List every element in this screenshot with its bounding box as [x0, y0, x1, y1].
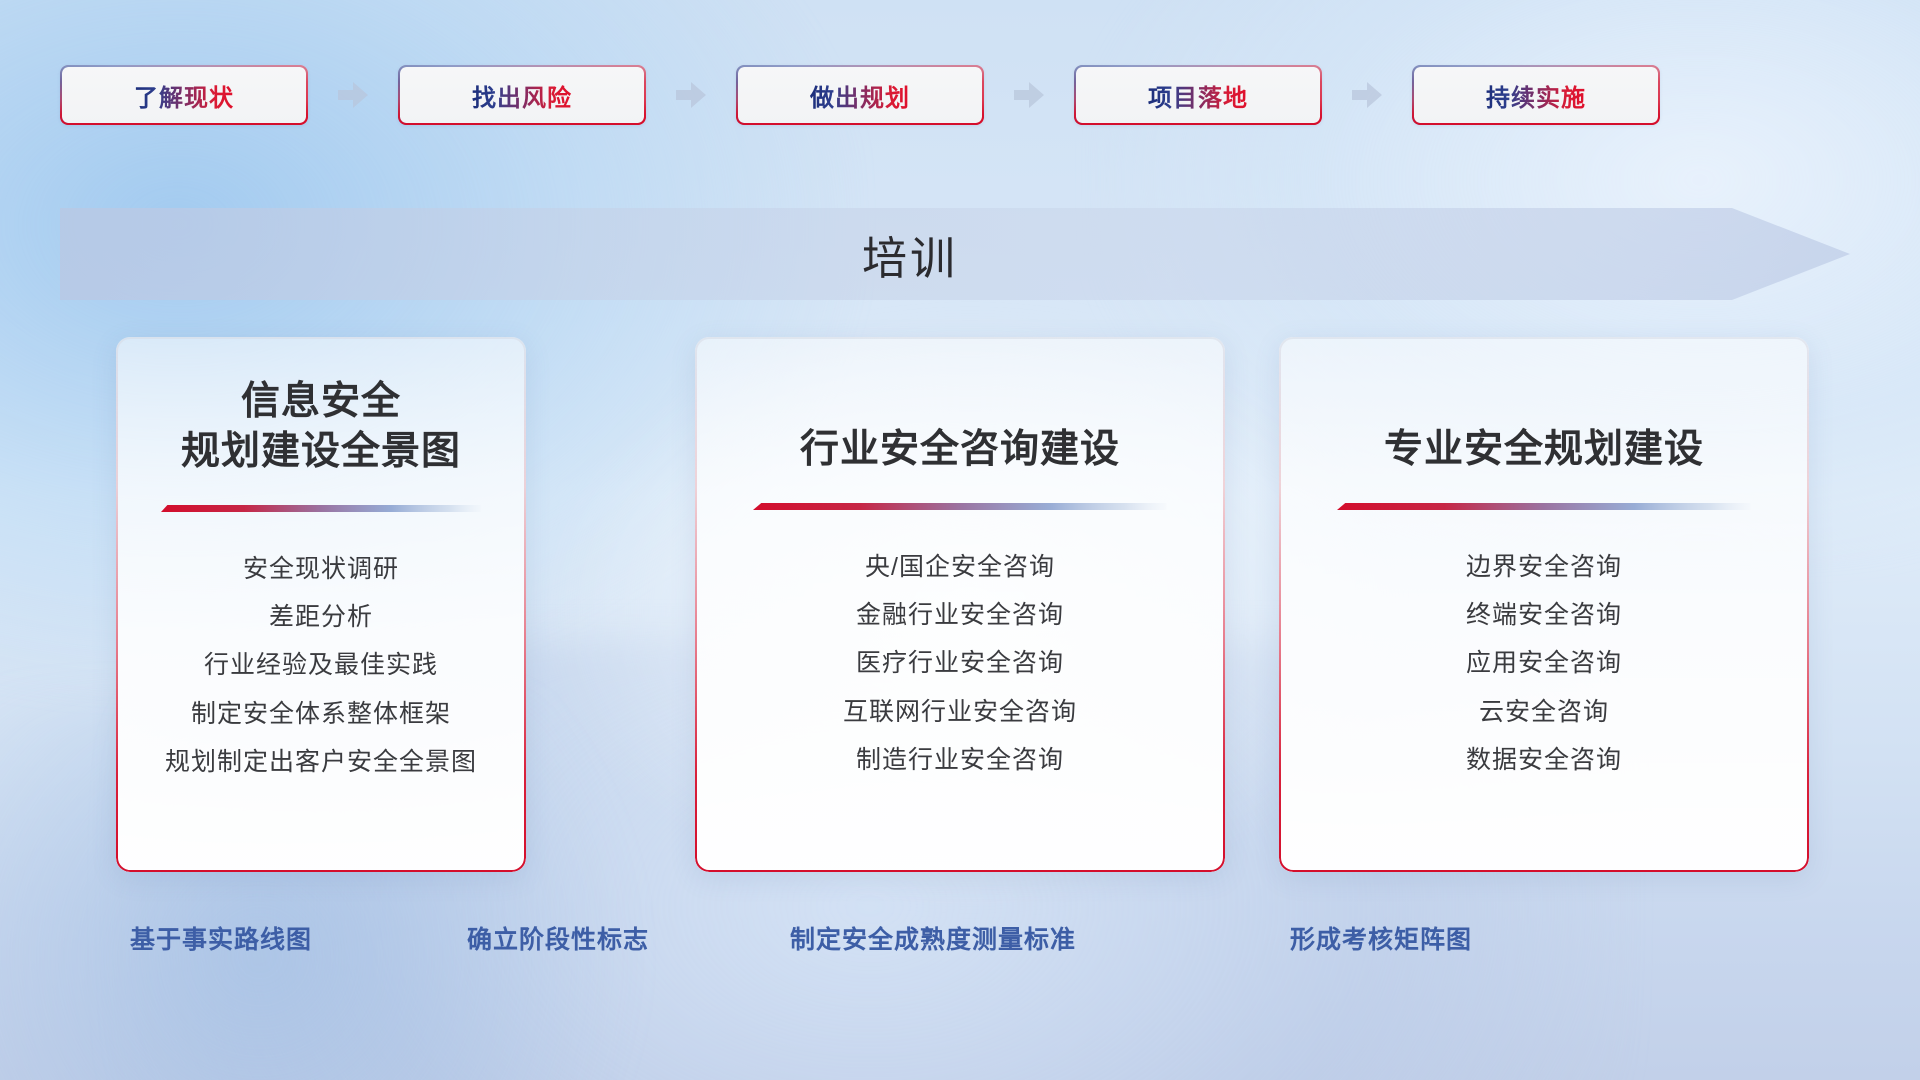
chevron-right-arrow-icon: [1352, 82, 1382, 108]
feature-card-title: 专业安全规划建设: [1384, 377, 1704, 475]
list-item: 差距分析: [269, 597, 373, 638]
feature-card-title: 信息安全规划建设全景图: [181, 377, 461, 477]
chevron-right-arrow-icon: [338, 82, 368, 108]
step-pill-label: 找出风险: [472, 78, 572, 113]
list-item: 云安全咨询: [1479, 692, 1609, 733]
feature-card-title-line-2: 规划建设全景图: [181, 427, 461, 477]
step-pill-4[interactable]: 项目落地: [1074, 65, 1322, 125]
list-item: 行业经验及最佳实践: [204, 645, 438, 686]
list-item: 数据安全咨询: [1466, 740, 1622, 781]
caption-2: 确立阶段性标志: [467, 920, 649, 956]
feature-card-3[interactable]: 专业安全规划建设边界安全咨询终端安全咨询应用安全咨询云安全咨询数据安全咨询: [1279, 337, 1809, 872]
caption-row: 基于事实路线图确立阶段性标志制定安全成熟度测量标准形成考核矩阵图: [0, 920, 1920, 966]
chevron-right-arrow-icon: [1014, 82, 1044, 108]
feature-card-body: 信息安全规划建设全景图安全现状调研差距分析行业经验及最佳实践制定安全体系整体框架…: [116, 337, 526, 872]
feature-card-title-line-1: 信息安全: [181, 377, 461, 427]
step-pill-label: 了解现状: [134, 78, 234, 113]
step-pill-5[interactable]: 持续实施: [1412, 65, 1660, 125]
list-item: 制定安全体系整体框架: [191, 694, 451, 735]
feature-card-body: 行业安全咨询建设央/国企安全咨询金融行业安全咨询医疗行业安全咨询互联网行业安全咨…: [695, 337, 1225, 872]
feature-card-divider: [1337, 501, 1750, 517]
list-item: 应用安全咨询: [1466, 643, 1622, 684]
step-pill-3[interactable]: 做出规划: [736, 65, 984, 125]
feature-card-2[interactable]: 行业安全咨询建设央/国企安全咨询金融行业安全咨询医疗行业安全咨询互联网行业安全咨…: [695, 337, 1225, 872]
band-title: 培训: [60, 208, 1760, 300]
step-pill-label: 持续实施: [1486, 78, 1586, 113]
list-item: 医疗行业安全咨询: [856, 643, 1064, 684]
step-pill-label: 做出规划: [810, 78, 910, 113]
feature-card-list: 边界安全咨询终端安全咨询应用安全咨询云安全咨询数据安全咨询: [1466, 547, 1622, 781]
list-item: 金融行业安全咨询: [856, 595, 1064, 636]
list-item: 制造行业安全咨询: [856, 740, 1064, 781]
caption-3: 制定安全成熟度测量标准: [790, 920, 1076, 956]
chevron-right-arrow-icon: [676, 82, 706, 108]
process-step-flow: 了解现状找出风险做出规划项目落地持续实施: [60, 64, 1860, 126]
step-pill-label: 项目落地: [1148, 78, 1248, 113]
feature-card-divider: [161, 503, 481, 519]
feature-card-body: 专业安全规划建设边界安全咨询终端安全咨询应用安全咨询云安全咨询数据安全咨询: [1279, 337, 1809, 872]
list-item: 边界安全咨询: [1466, 547, 1622, 588]
list-item: 安全现状调研: [243, 549, 399, 590]
feature-card-row: 信息安全规划建设全景图安全现状调研差距分析行业经验及最佳实践制定安全体系整体框架…: [0, 337, 1920, 877]
step-pill-1[interactable]: 了解现状: [60, 65, 308, 125]
step-pill-2[interactable]: 找出风险: [398, 65, 646, 125]
feature-card-title-line-1: 专业安全规划建设: [1384, 425, 1704, 475]
list-item: 终端安全咨询: [1466, 595, 1622, 636]
caption-1: 基于事实路线图: [130, 920, 312, 956]
feature-card-title: 行业安全咨询建设: [800, 377, 1120, 475]
list-item: 互联网行业安全咨询: [843, 692, 1077, 733]
list-item: 央/国企安全咨询: [865, 547, 1055, 588]
list-item: 规划制定出客户安全全景图: [165, 742, 477, 783]
feature-card-divider: [753, 501, 1166, 517]
training-arrow-band: 培训: [60, 208, 1850, 300]
feature-card-list: 安全现状调研差距分析行业经验及最佳实践制定安全体系整体框架规划制定出客户安全全景…: [165, 549, 477, 783]
feature-card-1[interactable]: 信息安全规划建设全景图安全现状调研差距分析行业经验及最佳实践制定安全体系整体框架…: [116, 337, 526, 872]
caption-4: 形成考核矩阵图: [1290, 920, 1472, 956]
feature-card-list: 央/国企安全咨询金融行业安全咨询医疗行业安全咨询互联网行业安全咨询制造行业安全咨…: [843, 547, 1077, 781]
feature-card-title-line-1: 行业安全咨询建设: [800, 425, 1120, 475]
slide-canvas: 了解现状找出风险做出规划项目落地持续实施 培训 信息安全规划建设全景图安全现状调…: [0, 0, 1920, 1080]
